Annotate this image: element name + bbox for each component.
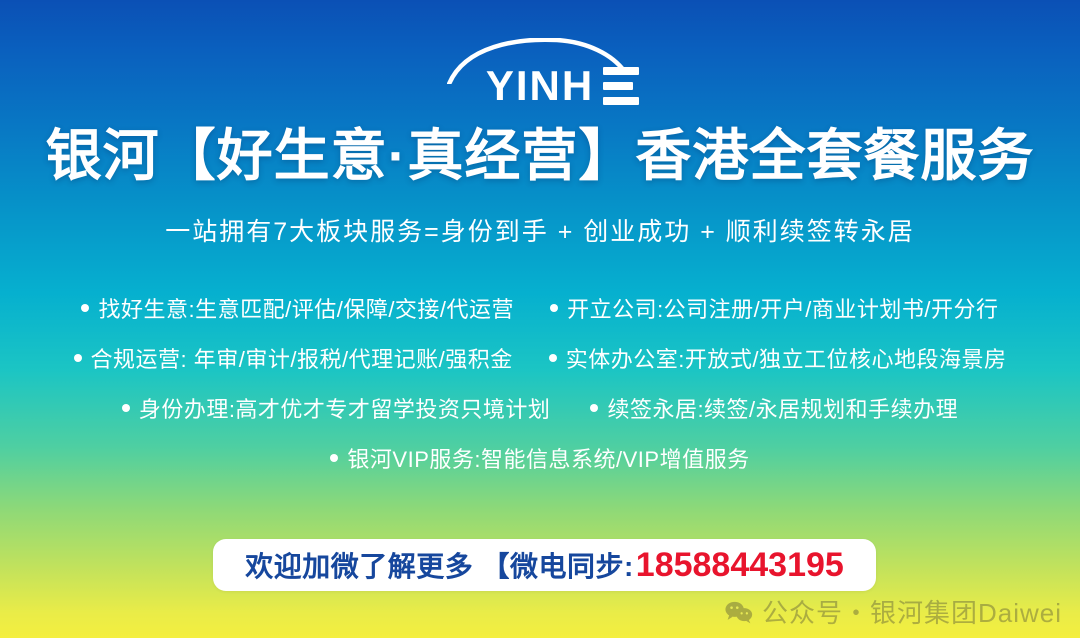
bullet-dot-icon xyxy=(122,404,130,412)
watermark-text: 公众号・银河集团Daiwei xyxy=(762,593,1062,630)
contact-label: 欢迎加微了解更多 【微电同步: xyxy=(245,545,634,585)
stacked-bars-e-icon xyxy=(603,67,639,105)
list-item: 续签永居:续签/永居规划和手续办理 xyxy=(590,392,958,424)
list-item: 实体办公室:开放式/独立工位核心地段海景房 xyxy=(549,342,1007,374)
bullet-dot-icon xyxy=(550,304,558,312)
list-item-label: 实体办公室:开放式/独立工位核心地段海景房 xyxy=(566,342,1007,374)
service-row: 银河VIP服务:智能信息系统/VIP增值服务 xyxy=(0,433,1080,483)
service-list: 找好生意:生意匹配/评估/保障/交接/代运营 开立公司:公司注册/开户/商业计划… xyxy=(0,283,1080,483)
logo-mark: YINH xyxy=(435,38,645,108)
list-item-label: 银河VIP服务:智能信息系统/VIP增值服务 xyxy=(347,442,749,474)
list-item: 合规运营: 年审/审计/报税/代理记账/强积金 xyxy=(74,342,513,374)
list-item: 银河VIP服务:智能信息系统/VIP增值服务 xyxy=(330,442,749,474)
poster-canvas: YINH 银河【好生意·真经营】香港全套餐服务 一站拥有7大板块服务=身份到手 … xyxy=(0,0,1080,638)
contact-banner: 欢迎加微了解更多 【微电同步:18588443195 xyxy=(213,539,876,591)
list-item: 开立公司:公司注册/开户/商业计划书/开分行 xyxy=(550,292,998,324)
bullet-dot-icon xyxy=(590,404,598,412)
bullet-dot-icon xyxy=(549,354,557,362)
list-item-label: 身份办理:高才优才专才留学投资只境计划 xyxy=(139,392,551,424)
wechat-icon xyxy=(725,600,753,624)
watermark: 公众号・银河集团Daiwei xyxy=(725,593,1062,630)
list-item: 身份办理:高才优才专才留学投资只境计划 xyxy=(122,392,551,424)
contact-banner-text: 欢迎加微了解更多 【微电同步:18588443195 xyxy=(245,545,844,585)
list-item: 找好生意:生意匹配/评估/保障/交接/代运营 xyxy=(81,292,514,324)
service-row: 合规运营: 年审/审计/报税/代理记账/强积金 实体办公室:开放式/独立工位核心… xyxy=(0,333,1080,383)
bullet-dot-icon xyxy=(74,354,82,362)
list-item-label: 合规运营: 年审/审计/报税/代理记账/强积金 xyxy=(91,342,513,374)
brand-logo: YINH xyxy=(0,32,1080,108)
page-subtitle: 一站拥有7大板块服务=身份到手 + 创业成功 + 顺利续签转永居 xyxy=(0,214,1080,250)
service-row: 身份办理:高才优才专才留学投资只境计划 续签永居:续签/永居规划和手续办理 xyxy=(0,383,1080,433)
list-item-label: 找好生意:生意匹配/评估/保障/交接/代运营 xyxy=(98,292,514,324)
bullet-dot-icon xyxy=(330,454,338,462)
service-row: 找好生意:生意匹配/评估/保障/交接/代运营 开立公司:公司注册/开户/商业计划… xyxy=(0,283,1080,333)
bullet-dot-icon xyxy=(81,304,89,312)
page-title: 银河【好生意·真经营】香港全套餐服务 xyxy=(0,122,1080,190)
list-item-label: 续签永居:续签/永居规划和手续办理 xyxy=(607,392,958,424)
contact-phone-number[interactable]: 18588443195 xyxy=(636,546,844,585)
list-item-label: 开立公司:公司注册/开户/商业计划书/开分行 xyxy=(567,292,998,324)
